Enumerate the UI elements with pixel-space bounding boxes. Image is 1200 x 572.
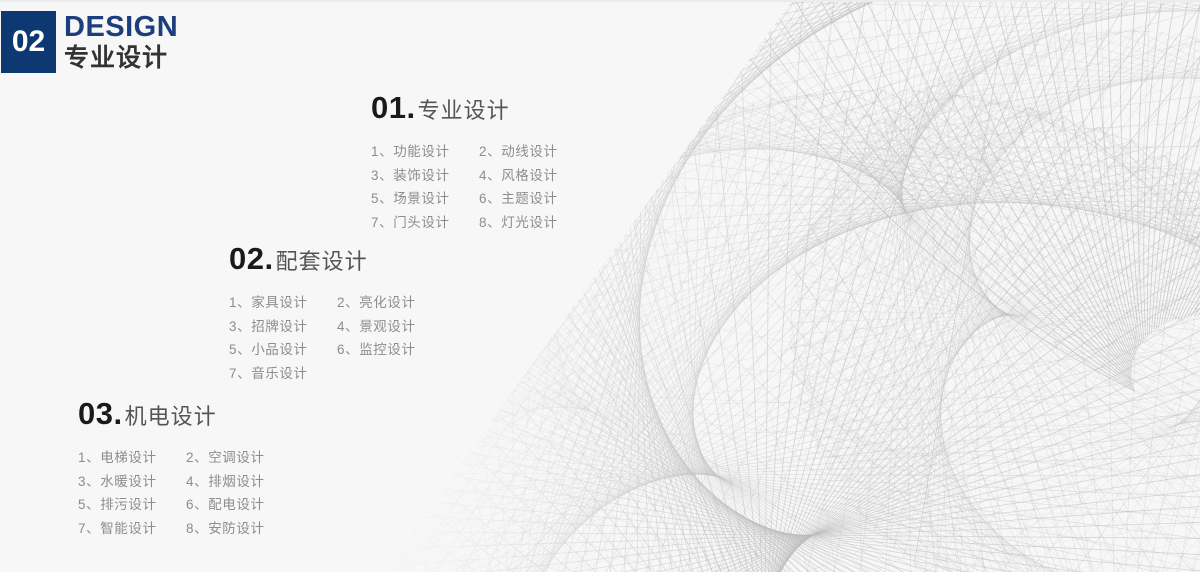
list-row: 3、招牌设计 4、景观设计 — [229, 315, 416, 339]
list-item: 5、排污设计 — [78, 493, 186, 517]
list-item: 1、家具设计 — [229, 291, 337, 315]
slide-canvas: 02 DESIGN 专业设计 01.专业设计 1、功能设计 2、动线设计 3、装… — [0, 0, 1200, 572]
list-item: 6、配电设计 — [186, 493, 265, 517]
list-item: 7、音乐设计 — [229, 362, 337, 386]
list-row: 3、装饰设计 4、风格设计 — [371, 164, 558, 188]
top-divider — [0, 0, 1200, 2]
list-row: 3、水暖设计 4、排烟设计 — [78, 470, 265, 494]
list-item: 4、风格设计 — [479, 164, 558, 188]
block-number: 02. — [229, 241, 274, 276]
content-block-02: 02.配套设计 1、家具设计 2、亮化设计 3、招牌设计 4、景观设计 5、小品… — [229, 243, 416, 385]
page-title-cn: 专业设计 — [64, 44, 178, 72]
list-row: 7、门头设计 8、灯光设计 — [371, 211, 558, 235]
list-row: 1、功能设计 2、动线设计 — [371, 140, 558, 164]
page-title-en: DESIGN — [64, 13, 178, 42]
block-heading: 03.机电设计 — [78, 398, 265, 429]
block-number: 03. — [78, 396, 123, 431]
block-item-list: 1、电梯设计 2、空调设计 3、水暖设计 4、排烟设计 5、排污设计 6、配电设… — [78, 446, 265, 540]
block-item-list: 1、功能设计 2、动线设计 3、装饰设计 4、风格设计 5、场景设计 6、主题设… — [371, 140, 558, 234]
block-item-list: 1、家具设计 2、亮化设计 3、招牌设计 4、景观设计 5、小品设计 6、监控设… — [229, 291, 416, 385]
block-title: 配套设计 — [276, 249, 368, 274]
list-row: 7、音乐设计 — [229, 362, 416, 386]
content-block-03: 03.机电设计 1、电梯设计 2、空调设计 3、水暖设计 4、排烟设计 5、排污… — [78, 398, 265, 540]
list-item: 2、动线设计 — [479, 140, 558, 164]
list-row: 7、智能设计 8、安防设计 — [78, 517, 265, 541]
list-item: 3、装饰设计 — [371, 164, 479, 188]
list-item: 1、功能设计 — [371, 140, 479, 164]
list-item: 8、安防设计 — [186, 517, 265, 541]
list-item: 2、亮化设计 — [337, 291, 416, 315]
block-title: 专业设计 — [418, 98, 510, 123]
list-item: 4、景观设计 — [337, 315, 416, 339]
list-item: 1、电梯设计 — [78, 446, 186, 470]
section-number-badge: 02 — [1, 11, 56, 73]
list-row: 1、家具设计 2、亮化设计 — [229, 291, 416, 315]
list-item: 6、主题设计 — [479, 187, 558, 211]
block-number: 01. — [371, 90, 416, 125]
block-heading: 02.配套设计 — [229, 243, 416, 274]
block-heading: 01.专业设计 — [371, 92, 558, 123]
list-row: 5、小品设计 6、监控设计 — [229, 338, 416, 362]
list-item: 2、空调设计 — [186, 446, 265, 470]
list-row: 5、排污设计 6、配电设计 — [78, 493, 265, 517]
block-title: 机电设计 — [125, 404, 217, 429]
content-block-01: 01.专业设计 1、功能设计 2、动线设计 3、装饰设计 4、风格设计 5、场景… — [371, 92, 558, 234]
list-item: 7、智能设计 — [78, 517, 186, 541]
list-item: 8、灯光设计 — [479, 211, 558, 235]
list-row: 1、电梯设计 2、空调设计 — [78, 446, 265, 470]
list-item: 5、小品设计 — [229, 338, 337, 362]
list-item: 3、招牌设计 — [229, 315, 337, 339]
list-row: 5、场景设计 6、主题设计 — [371, 187, 558, 211]
list-item: 4、排烟设计 — [186, 470, 265, 494]
list-item: 5、场景设计 — [371, 187, 479, 211]
header-text-group: DESIGN 专业设计 — [64, 13, 178, 72]
section-number: 02 — [12, 27, 45, 57]
list-item: 3、水暖设计 — [78, 470, 186, 494]
list-item: 7、门头设计 — [371, 211, 479, 235]
list-item: 6、监控设计 — [337, 338, 416, 362]
